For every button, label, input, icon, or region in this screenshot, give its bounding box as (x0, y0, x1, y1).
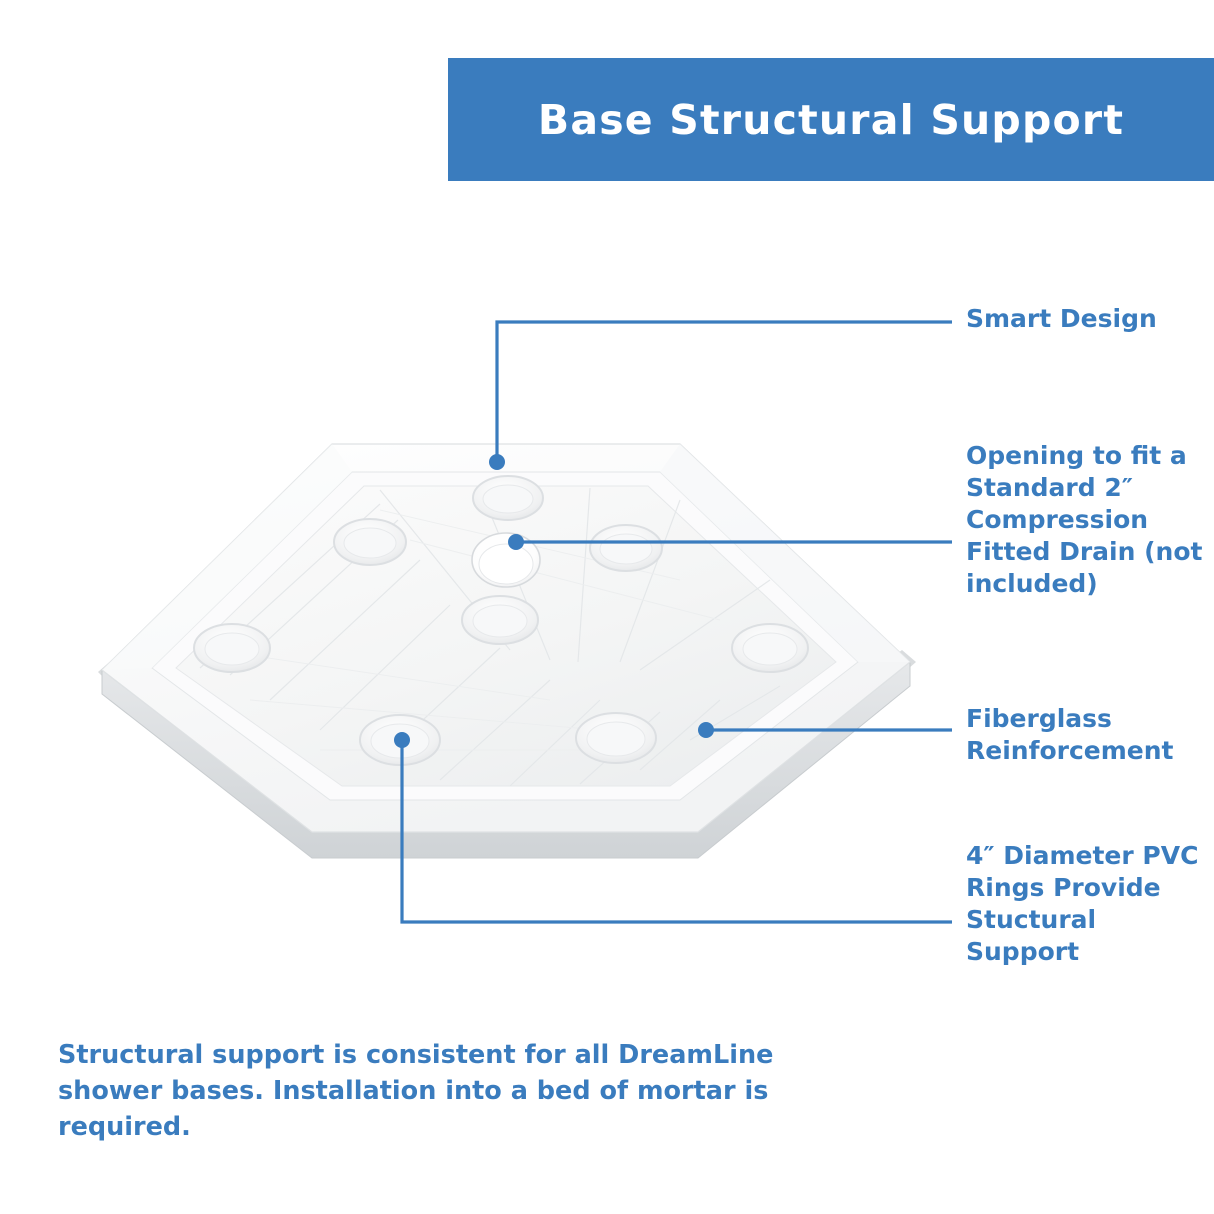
callout-pvc-rings: 4″ Diameter PVC Rings Provide Stuctural … (966, 840, 1206, 968)
page-title: Base Structural Support (538, 96, 1124, 144)
callout-drain-opening: Opening to fit a Standard 2″ Compression… (966, 440, 1214, 600)
callout-smart-design: Smart Design (966, 303, 1206, 335)
callout-fiberglass-reinforcement: Fiberglass Reinforcement (966, 703, 1214, 767)
footer-note: Structural support is consistent for all… (58, 1037, 818, 1146)
shower-base-drawing (80, 400, 960, 900)
header-bar: Base Structural Support (448, 58, 1214, 181)
page-root: Base Structural Support (0, 0, 1214, 1214)
product-illustration (80, 400, 960, 900)
